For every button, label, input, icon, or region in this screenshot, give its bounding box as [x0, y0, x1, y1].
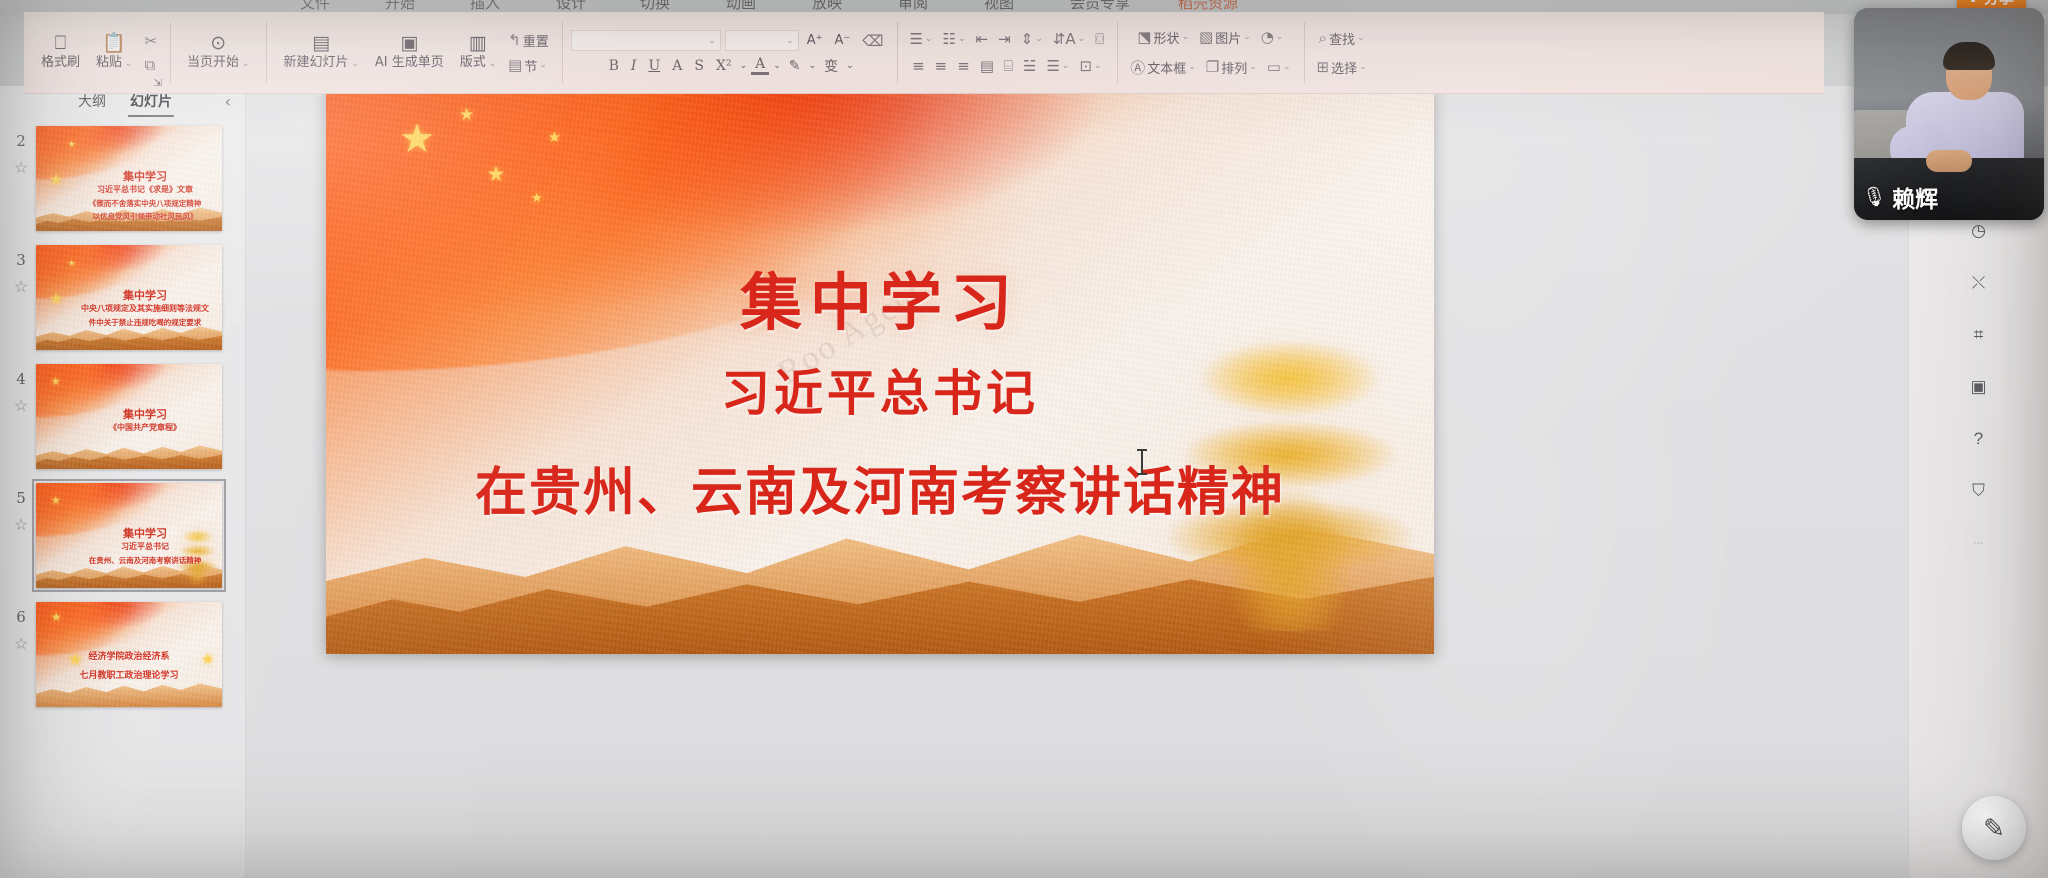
slide-number: 4	[8, 370, 34, 388]
find-button[interactable]: ⌕查找⌄	[1315, 27, 1369, 50]
textbox-label: 文本框	[1147, 58, 1186, 77]
list-item[interactable]: 6 ☆ ★ ★ ★ 经济学院政治经济系 七月教职工政治理论学习	[0, 596, 245, 715]
format-painter-button[interactable]: ⎕ 格式刷	[33, 30, 88, 75]
list-item[interactable]: 5 ☆ ★ 集中学习 习近平总书记 在贵州、云南及河南考察讲话精神	[0, 477, 245, 596]
thumb-line-2: 《中国共产党章程》	[36, 422, 222, 433]
text-box-align-button[interactable]: ⊡⌄	[1075, 55, 1105, 77]
chevron-down-icon: ⌄	[348, 59, 358, 69]
new-slide-icon: ▤	[312, 33, 330, 53]
star-outline-icon[interactable]: ☆	[8, 277, 34, 297]
shape-style-button[interactable]: ▭⌄	[1263, 56, 1295, 78]
tab-outline[interactable]: 大纲	[78, 91, 106, 116]
smartart-icon: ⌼	[1095, 30, 1104, 48]
fill-color-button[interactable]: ◔⌄	[1257, 26, 1288, 48]
play-circle-icon: ⊙	[210, 33, 226, 53]
thumb-line-3: 在贵州、云南及河南考察讲话精神	[36, 555, 222, 566]
thumb-line-1: 集中学习	[36, 168, 222, 184]
list-item[interactable]: 4 ☆ ★ 集中学习 《中国共产党章程》	[0, 358, 245, 477]
line-spacing-icon: ⇕	[1021, 30, 1034, 48]
ribbon-toolbar: ⎕ 格式刷 📋 粘贴 ⌄ ✂ ⧉ ⇲ ⊙ 当页开始 ⌄ ▤ 新建幻	[24, 12, 1824, 94]
strikethrough-button[interactable]: A	[668, 58, 686, 74]
layout-button[interactable]: ▥ 版式 ⌄	[452, 30, 504, 75]
thumb-line-1: 经济学院政治经济系	[36, 649, 222, 662]
chevron-down-icon: ⌄	[773, 60, 781, 71]
picture-label: 图片	[1215, 28, 1241, 47]
text-direction-button[interactable]: ⇵A⌄	[1049, 28, 1089, 50]
ribbon-group-clipboard: ⎕ 格式刷 📋 粘贴 ⌄ ✂ ⧉ ⇲	[24, 12, 170, 93]
chevron-down-icon: ⌄	[786, 35, 794, 46]
reset-button[interactable]: ↰重置	[504, 29, 553, 52]
copy-button[interactable]: ⧉	[140, 54, 161, 76]
highlight-button[interactable]: ✎	[785, 58, 805, 74]
indent-increase-icon: ⇥	[998, 30, 1011, 48]
start-from-current-label: 当页开始 ⌄	[187, 54, 249, 72]
microphone-icon[interactable]: 🎙	[1862, 185, 1886, 209]
chevron-down-icon: ⌄	[740, 60, 748, 71]
shapes-label: 形状	[1153, 28, 1179, 47]
font-row-top: ⌄ ⌄ A⁺ A⁻ ⌫	[571, 30, 888, 52]
pen-icon[interactable]: ✎	[1962, 796, 2026, 860]
reset-icon: ↰	[508, 31, 521, 49]
align-left-button[interactable]: ≡	[908, 55, 929, 77]
thumb-line-1: 集中学习	[36, 525, 222, 541]
paste-button[interactable]: 📋 粘贴 ⌄	[88, 30, 140, 75]
select-button[interactable]: ⊞选择⌄	[1313, 56, 1371, 79]
participant-hand	[1926, 150, 1972, 172]
bullet-list-button[interactable]: ☰⌄	[906, 28, 937, 50]
clipboard-dialog-launcher[interactable]: ⇲	[150, 76, 166, 91]
chevron-down-icon: ⌄	[1357, 33, 1365, 43]
ribbon-group-slides: ▤ 新建幻灯片 ⌄ ▣ AI 生成单页 ▥ 版式 ⌄ ↰重置 ▤节⌄	[266, 12, 561, 93]
reset-label: 重置	[523, 31, 549, 50]
slide-subtitle[interactable]: 习近平总书记	[326, 354, 1434, 425]
align-left-icon: ≡	[912, 57, 925, 75]
chevron-down-icon: ⌄	[239, 59, 249, 69]
slide-thumbnail-3[interactable]: ★ ★ 集中学习 中央八项规定及其实施细则等法规文 件中关于禁止违规吃喝的规定要…	[36, 245, 222, 350]
font-size-input[interactable]: ⌄	[725, 30, 799, 51]
star-outline-icon[interactable]: ☆	[8, 634, 34, 654]
gift-icon[interactable]: ⛉	[1962, 476, 1996, 506]
columns-icon: ☱	[1023, 57, 1036, 75]
chevron-down-icon: ⌄	[486, 59, 496, 69]
chevron-down-icon: ⌄	[958, 34, 966, 44]
chevron-down-icon: ⌄	[1249, 62, 1257, 72]
slide-number: 6	[8, 608, 34, 626]
slide-number: 3	[8, 251, 34, 269]
find-label: 查找	[1329, 29, 1355, 48]
editing-row-top: ⌕查找⌄	[1315, 27, 1369, 50]
paint-brush-icon: ⎕	[55, 33, 66, 53]
ai-generate-slide-label: AI 生成单页	[375, 54, 444, 72]
thumb-line-2: 中央八项规定及其实施细则等法规文	[36, 303, 222, 314]
bold-button[interactable]: B	[605, 58, 623, 74]
clear-format-button[interactable]: ⌫	[858, 30, 887, 52]
share-label: 分享	[1984, 0, 2014, 8]
slide-thumbnail-panel: 大纲 幻灯片 ‹ 2 ☆ ★ ★	[0, 86, 246, 878]
current-slide-canvas[interactable]: ★ ★ ★ ★ ★ Roo Agent 集中学习 习近平总书记 在贵州、云南及河…	[326, 88, 1434, 654]
font-row-bottom: B I U A S X²⌄ A⌄ ✎⌄ 变⌄	[605, 56, 854, 76]
screen-photo: 文件 开始 插入 设计 切换 动画 放映 审阅 视图 会员专享 稻壳资源 ⎕ 格…	[0, 0, 2048, 878]
chevron-down-icon: ⌄	[846, 60, 854, 71]
thumb-line-1: 集中学习	[36, 406, 222, 422]
align-right-button[interactable]: ≡	[953, 55, 974, 77]
ribbon-group-font: ⌄ ⌄ A⁺ A⁻ ⌫ B I U A S X²⌄ A⌄ ✎⌄ 变⌄	[562, 12, 897, 93]
ai-generate-slide-button[interactable]: ▣ AI 生成单页	[367, 30, 452, 75]
thumb-line-3: 《锲而不舍落实中央八项规定精神	[36, 198, 222, 209]
slide-thumbnail-list[interactable]: 2 ☆ ★ ★ 集中学习 习近平总书记《求是》文章 《锲而不舍落实中央八项规定精…	[0, 120, 245, 878]
section-button[interactable]: ▤节⌄	[504, 54, 553, 77]
slide-body-line[interactable]: 在贵州、云南及河南考察讲话精神	[326, 450, 1434, 525]
paste-label: 粘贴 ⌄	[96, 54, 132, 72]
align-center-button[interactable]: ≡	[931, 55, 952, 77]
chevron-down-icon: ⌄	[1035, 34, 1043, 44]
clock-icon[interactable]: ◷	[1962, 216, 1996, 246]
distribute-button[interactable]: ⌸	[1000, 55, 1017, 77]
participant-name-badge: 🎙 赖辉	[1854, 178, 1948, 216]
ribbon-group-slideshow: ⊙ 当页开始 ⌄	[170, 12, 266, 93]
thumb-line-2: 习近平总书记《求是》文章	[36, 184, 222, 195]
eraser-icon: ⌫	[862, 32, 883, 50]
thumb-line-2: 习近平总书记	[36, 541, 222, 552]
chevron-down-icon: ⌄	[539, 60, 547, 70]
slide-title[interactable]: 集中学习	[326, 252, 1434, 342]
align-text-button[interactable]: ☰⌄	[1042, 55, 1073, 77]
clipboard-icon: 📋	[102, 33, 126, 53]
list-item[interactable]: 3 ☆ ★ ★ 集中学习 中央八项规定及其实施细则等法规文 件中关于禁止违规吃喝…	[0, 239, 245, 358]
indent-decrease-icon: ⇤	[976, 30, 989, 48]
textbox-button[interactable]: Ⓐ文本框⌄	[1126, 55, 1200, 80]
star-outline-icon[interactable]: ☆	[8, 158, 34, 178]
slide-number: 2	[8, 132, 34, 150]
slide-thumbnail-5-selected[interactable]: ★ 集中学习 习近平总书记 在贵州、云南及河南考察讲话精神	[36, 483, 222, 588]
text-cursor-icon	[1141, 449, 1143, 475]
line-spacing-button[interactable]: ⇕⌄	[1017, 28, 1047, 50]
participant-glasses	[1949, 66, 1989, 75]
image-frame-icon[interactable]: ▣	[1962, 372, 1996, 402]
chevron-down-icon: ⌄	[708, 35, 716, 46]
chevron-down-icon: ⌄	[1181, 32, 1189, 42]
thumb-line-1: 集中学习	[36, 287, 222, 303]
shrink-font-icon: A⁻	[835, 33, 851, 48]
star-outline-icon[interactable]: ☆	[8, 515, 34, 535]
chevron-down-icon: ⌄	[1078, 34, 1086, 44]
text-effect-button[interactable]: 变	[820, 56, 842, 76]
indent-increase-button[interactable]: ⇥	[994, 28, 1015, 50]
thumb-line-4: 以优良党风引领带动社风民风》	[36, 211, 222, 222]
shapes-button[interactable]: ⬔形状⌄	[1133, 26, 1193, 49]
search-icon: ⌕	[1319, 29, 1327, 47]
slide-thumbnail-4[interactable]: ★ 集中学习 《中国共产党章程》	[36, 364, 222, 469]
slide-thumbnail-2[interactable]: ★ ★ 集中学习 习近平总书记《求是》文章 《锲而不舍落实中央八项规定精神 以优…	[36, 126, 222, 231]
arrange-icon: ❐	[1206, 58, 1219, 76]
list-item[interactable]: 2 ☆ ★ ★ 集中学习 习近平总书记《求是》文章 《锲而不舍落实中央八项规定精…	[0, 120, 245, 239]
grow-font-icon: A⁺	[807, 33, 823, 48]
numbered-list-button[interactable]: ☷⌄	[939, 28, 970, 50]
layout-icon: ▥	[469, 33, 487, 53]
select-label: 选择	[1331, 58, 1357, 77]
columns-button[interactable]: ☱	[1019, 55, 1040, 77]
chevron-down-icon: ⌄	[925, 34, 933, 44]
chevron-down-icon: ⌄	[1062, 61, 1070, 71]
participant-name: 赖辉	[1892, 180, 1938, 214]
grow-font-button[interactable]: A⁺	[803, 31, 827, 50]
more-dots-icon[interactable]: ⋯	[1973, 538, 1984, 549]
shuffle-icon[interactable]: ⤬	[1962, 268, 1996, 298]
shapes-icon: ⬔	[1137, 28, 1151, 46]
start-from-current-button[interactable]: ⊙ 当页开始 ⌄	[179, 30, 257, 75]
picture-icon: ▧	[1199, 28, 1213, 46]
star-outline-icon[interactable]: ☆	[8, 396, 34, 416]
chevron-down-icon: ⌄	[1094, 61, 1102, 71]
smartart-button[interactable]: ⌼	[1091, 28, 1108, 50]
thumb-line-3: 件中关于禁止违规吃喝的规定要求	[36, 317, 222, 328]
tab-slides[interactable]: 幻灯片	[130, 91, 172, 116]
chevron-down-icon: ⌄	[1283, 62, 1291, 72]
picture-button[interactable]: ▧图片⌄	[1195, 26, 1255, 49]
indent-decrease-button[interactable]: ⇤	[972, 28, 993, 50]
chevron-down-icon: ⌄	[1359, 62, 1367, 72]
ribbon-group-drawing: ⬔形状⌄ ▧图片⌄ ◔⌄ Ⓐ文本框⌄ ❐排列⌄ ▭⌄	[1117, 12, 1303, 93]
layout-label: 版式 ⌄	[460, 54, 496, 72]
align-text-icon: ☰	[1046, 57, 1059, 75]
chevron-down-icon: ⌄	[809, 60, 817, 71]
copy-icon: ⧉	[144, 56, 155, 74]
align-justify-button[interactable]: ▤	[976, 55, 998, 77]
text-direction-icon: ⇵A	[1053, 30, 1076, 48]
textbox-align-icon: ⊡	[1079, 57, 1092, 75]
clipboard-small-buttons: ✂ ⧉	[140, 30, 161, 76]
shadow-button[interactable]: S	[690, 58, 708, 74]
editing-canvas-area: ★ ★ ★ ★ ★ Roo Agent 集中学习 习近平总书记 在贵州、云南及河…	[246, 86, 1908, 878]
thumb-line-2: 七月教职工政治理论学习	[36, 668, 222, 681]
drawing-row-top: ⬔形状⌄ ▧图片⌄ ◔⌄	[1133, 26, 1287, 49]
share-icon: ⬆	[1967, 0, 1979, 6]
slide-thumbnail-6[interactable]: ★ ★ ★ 经济学院政治经济系 七月教职工政治理论学习	[36, 602, 222, 707]
crop-icon[interactable]: ⌗	[1962, 320, 1996, 350]
bullet-list-icon: ☰	[910, 30, 923, 48]
select-icon: ⊞	[1317, 58, 1330, 76]
ribbon-group-editing: ⌕查找⌄ ⊞选择⌄	[1304, 12, 1380, 93]
font-name-input[interactable]: ⌄	[571, 30, 721, 51]
new-slide-button[interactable]: ▤ 新建幻灯片 ⌄	[275, 30, 366, 75]
numbered-list-icon: ☷	[943, 30, 956, 48]
new-slide-label: 新建幻灯片 ⌄	[283, 54, 358, 72]
cut-button[interactable]: ✂	[140, 30, 161, 52]
chevron-left-icon[interactable]: ‹	[225, 92, 231, 111]
superscript-button[interactable]: X²	[712, 58, 736, 74]
chevron-down-icon: ⌄	[1188, 62, 1196, 72]
italic-button[interactable]: I	[627, 58, 641, 74]
distribute-icon: ⌸	[1004, 57, 1013, 75]
slide-number: 5	[8, 489, 34, 507]
editing-row-bottom: ⊞选择⌄	[1313, 56, 1371, 79]
chevron-down-icon: ⌄	[1276, 32, 1284, 42]
ribbon-group-paragraph: ☰⌄ ☷⌄ ⇤ ⇥ ⇕⌄ ⇵A⌄ ⌼ ≡ ≡ ≡ ▤ ⌸ ☱ ☰⌄ ⊡⌄	[897, 12, 1118, 93]
format-painter-label: 格式刷	[41, 54, 80, 72]
section-label: 节	[524, 56, 537, 75]
chevron-down-icon: ⌄	[1243, 32, 1251, 42]
paragraph-row-top: ☰⌄ ☷⌄ ⇤ ⇥ ⇕⌄ ⇵A⌄ ⌼	[906, 28, 1109, 50]
scissors-icon: ✂	[144, 32, 157, 50]
align-justify-icon: ▤	[980, 57, 994, 75]
chevron-down-icon: ⌄	[122, 59, 132, 69]
align-right-icon: ≡	[957, 57, 970, 75]
slides-small-buttons: ↰重置 ▤节⌄	[504, 29, 553, 77]
shape-style-icon: ▭	[1267, 58, 1281, 76]
section-icon: ▤	[508, 56, 522, 74]
drawing-row-bottom: Ⓐ文本框⌄ ❐排列⌄ ▭⌄	[1126, 55, 1294, 80]
shrink-font-button[interactable]: A⁻	[831, 31, 855, 50]
align-center-icon: ≡	[935, 57, 948, 75]
help-circle-icon[interactable]: ?	[1962, 424, 1996, 454]
expander-icon: ⇲	[154, 78, 162, 89]
underline-button[interactable]: U	[644, 58, 664, 74]
ai-slide-icon: ▣	[400, 33, 418, 53]
paragraph-row-bottom: ≡ ≡ ≡ ▤ ⌸ ☱ ☰⌄ ⊡⌄	[908, 55, 1106, 77]
font-color-button[interactable]: A	[751, 56, 769, 75]
textbox-icon: Ⓐ	[1130, 57, 1145, 78]
fill-color-icon: ◔	[1261, 28, 1274, 46]
video-participant-tile[interactable]: 🎙 赖辉	[1854, 8, 2044, 220]
arrange-button[interactable]: ❐排列⌄	[1202, 56, 1261, 79]
arrange-label: 排列	[1221, 58, 1247, 77]
